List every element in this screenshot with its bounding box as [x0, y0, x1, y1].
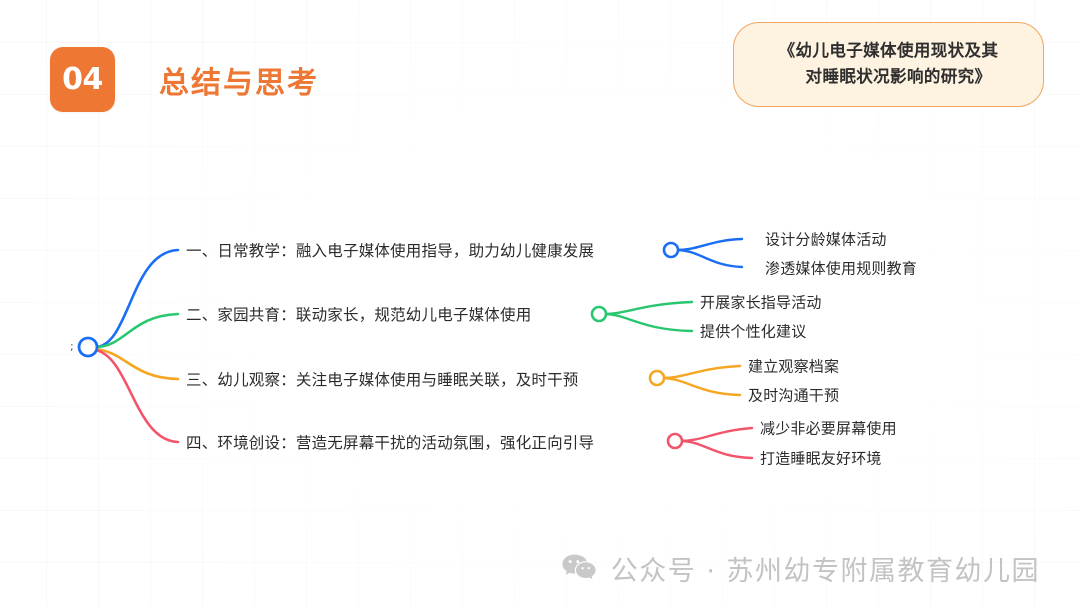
- root-marker: ;: [70, 341, 74, 352]
- wechat-icon: [562, 554, 596, 583]
- slide-canvas: 04 总结与思考 《幼儿电子媒体使用现状及其 对睡眠状况影响的研究》: [0, 0, 1080, 606]
- paper-title-line-2: 对睡眠状况影响的研究》: [752, 64, 1025, 90]
- mindmap-root-node[interactable]: [79, 338, 97, 356]
- leaf-label-1-1[interactable]: 设计分龄媒体活动: [765, 229, 887, 250]
- section-number-badge: 04: [50, 47, 115, 112]
- slide-header: 04 总结与思考: [50, 47, 319, 112]
- leaf-label-4-2[interactable]: 打造睡眠友好环境: [760, 448, 882, 469]
- branch-label-1[interactable]: 一、日常教学：融入电子媒体使用指导，助力幼儿健康发展: [186, 239, 594, 261]
- leaf-label-3-1[interactable]: 建立观察档案: [748, 356, 839, 377]
- paper-title-chip: 《幼儿电子媒体使用现状及其 对睡眠状况影响的研究》: [733, 22, 1044, 107]
- leaf-label-2-1[interactable]: 开展家长指导活动: [700, 292, 822, 313]
- footer-account-text: 公众号 · 苏州幼专附属教育幼儿园: [611, 549, 1040, 588]
- leaf-label-3-2[interactable]: 及时沟通干预: [748, 385, 839, 406]
- branch-label-2[interactable]: 二、家园共育：联动家长，规范幼儿电子媒体使用: [186, 303, 531, 325]
- leaf-label-1-2[interactable]: 渗透媒体使用规则教育: [765, 258, 917, 279]
- page-title: 总结与思考: [159, 58, 319, 102]
- branch-label-4[interactable]: 四、环境创设：营造无屏幕干扰的活动氛围，强化正向引导: [186, 431, 594, 453]
- leaf-label-4-1[interactable]: 减少非必要屏幕使用: [760, 418, 897, 439]
- leaf-label-2-2[interactable]: 提供个性化建议: [700, 321, 806, 342]
- paper-title-line-1: 《幼儿电子媒体使用现状及其: [752, 38, 1025, 64]
- branch-label-3[interactable]: 三、幼儿观察：关注电子媒体使用与睡眠关联，及时干预: [186, 368, 579, 390]
- footer: 公众号 · 苏州幼专附属教育幼儿园: [0, 549, 1040, 588]
